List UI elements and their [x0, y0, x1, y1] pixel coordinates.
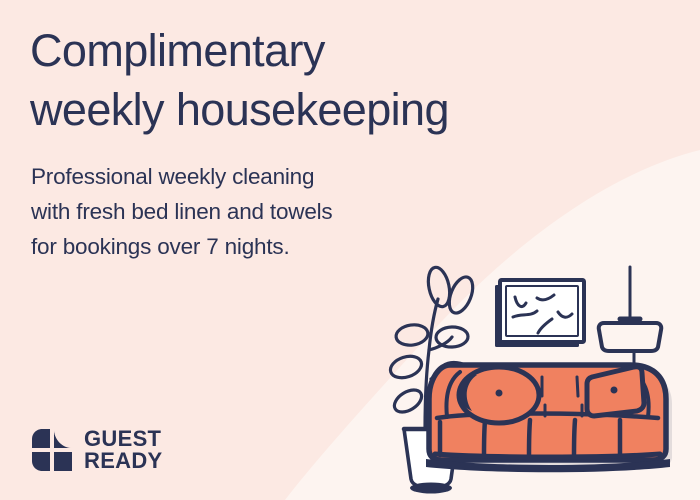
promo-banner: Complimentary weekly housekeeping Profes…: [0, 0, 700, 500]
page-title: Complimentary weekly housekeeping: [30, 22, 630, 139]
logo-line-2: READY: [84, 450, 163, 472]
guestready-quadrant-mark-icon: [31, 428, 73, 472]
framed-picture-icon: [495, 280, 584, 347]
living-room-illustration: [382, 255, 700, 500]
banner-description: Professional weekly cleaning with fresh …: [31, 160, 431, 265]
brand-logo: GUEST READY: [31, 428, 163, 472]
pendant-lamp-icon: [599, 267, 662, 365]
round-cushion-icon: [459, 367, 539, 423]
logo-wordmark: GUEST READY: [84, 428, 163, 471]
square-cushion-icon: [587, 367, 644, 416]
logo-line-1: GUEST: [84, 428, 163, 450]
